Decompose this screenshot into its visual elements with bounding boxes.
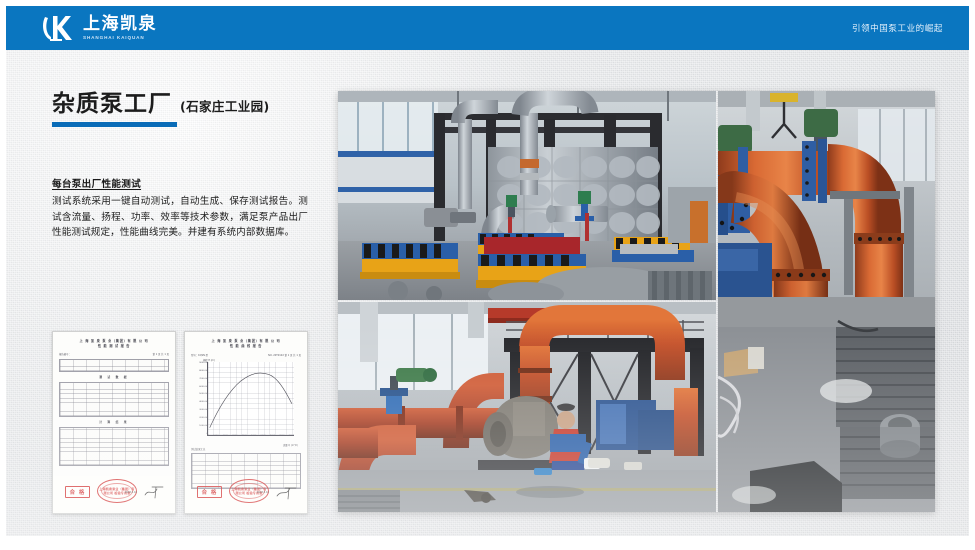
page-header: 上海凯泉 SHANGHAI KAIQUAN 引领中国泵工业的崛起 xyxy=(6,6,969,50)
slide-canvas: 上海凯泉 SHANGHAI KAIQUAN 引领中国泵工业的崛起 杂质泵工厂 (… xyxy=(6,6,969,536)
logo-chinese-name: 上海凯泉 xyxy=(83,16,157,34)
orange-elbow-piping-photo xyxy=(718,91,935,512)
test-report-table-thumbnail[interactable]: 上 海 凯 泉 泵 业（集团）有 限 公 司 性 能 测 试 报 告 报告编号：… xyxy=(52,331,176,514)
x-tick: 8000 xyxy=(279,435,284,440)
left-content-column: 杂质泵工厂 (石家庄工业园) 每台泵出厂性能测试 测试系统采用一键自动测试，自动… xyxy=(6,50,336,536)
x-tick: 7000 xyxy=(270,435,275,440)
document-thumbnails: 上 海 凯 泉 泵 业（集团）有 限 公 司 性 能 测 试 报 告 报告编号：… xyxy=(52,331,308,514)
chart-curve-path xyxy=(208,362,294,435)
kaiquan-k-mark-icon xyxy=(42,13,76,43)
y-tick: 7000.00 xyxy=(199,378,208,380)
chart-y-axis-label: 扬程 H (m) xyxy=(203,358,215,362)
stamp-date: 2018.3.16 xyxy=(125,491,137,494)
description-paragraph: 测试系统采用一键自动测试，自动生成、保存测试报告。测试含流量、扬程、功率、效率等… xyxy=(52,194,308,241)
y-tick: 9000.00 xyxy=(199,362,208,364)
curve-caption: 测试结果汇总 xyxy=(191,447,205,451)
y-tick: 4000.00 xyxy=(199,401,208,403)
doc-results-table xyxy=(59,427,169,466)
brand-logo[interactable]: 上海凯泉 SHANGHAI KAIQUAN xyxy=(42,13,157,43)
y-tick: 2000.00 xyxy=(199,417,208,419)
performance-curve-chart: 9000.00 8000.00 7000.00 6000.00 5000.00 … xyxy=(207,362,294,436)
handwritten-signature-icon xyxy=(275,484,297,500)
stamp-date: 2018.3.16 xyxy=(257,491,269,494)
chart-x-axis-label: 流量 Q (m³/h) xyxy=(283,443,298,447)
doc-section-label-2: 计 算 结 果 xyxy=(59,420,169,424)
title-underline-bar xyxy=(52,122,177,127)
title-block: 杂质泵工厂 (石家庄工业园) xyxy=(52,92,270,127)
test-report-curve-thumbnail[interactable]: 上 海 凯 泉 泵 业（集团）有 限 公 司 性 能 曲 线 报 告 型号：KQ… xyxy=(184,331,308,514)
slide-frame: 上海凯泉 SHANGHAI KAIQUAN 引领中国泵工业的崛起 杂质泵工厂 (… xyxy=(0,0,975,550)
header-tagline: 引领中国泵工业的崛起 xyxy=(852,22,943,34)
doc-meta-left: 报告编号： xyxy=(59,352,71,356)
description-heading: 每台泵出厂性能测试 xyxy=(52,176,308,190)
logo-english-name: SHANGHAI KAIQUAN xyxy=(83,35,157,41)
doc-stamp-row: 合 格 上海凯泉泵业（集团）有限公司 检验专用章 2018.3.16 xyxy=(63,474,167,504)
pump-test-hall-photo xyxy=(338,91,716,300)
photo-collage xyxy=(338,91,935,512)
doc-measurement-table xyxy=(59,382,169,417)
y-tick: 1000.00 xyxy=(199,425,208,427)
curve-meta-left: 型号：KQSN 型 xyxy=(191,353,208,357)
y-tick: 8000.00 xyxy=(199,370,208,372)
handwritten-signature-icon xyxy=(143,484,165,500)
doc-report-title: 性 能 测 试 报 告 xyxy=(59,344,169,349)
pump-test-piping-photo xyxy=(338,302,716,512)
y-tick: 6000.00 xyxy=(199,386,208,388)
collage-left-column xyxy=(338,91,716,512)
x-tick: 2000 xyxy=(223,435,228,440)
page-title: 杂质泵工厂 xyxy=(52,92,172,117)
doc-header-table xyxy=(59,359,169,372)
qualified-stamp: 合 格 xyxy=(65,486,90,498)
x-tick: 4000 xyxy=(242,435,247,440)
x-tick: 9000 xyxy=(289,435,294,440)
curve-report-title: 性 能 曲 线 报 告 xyxy=(191,344,301,349)
x-tick: 0 xyxy=(208,435,209,440)
curve-meta-right: NO. 20T0102 第 1 页 共 1 页 xyxy=(268,353,301,357)
chart-x-ticks: 0 1000 2000 3000 4000 5000 6000 7000 800… xyxy=(208,435,294,440)
qualified-stamp: 合 格 xyxy=(197,486,222,498)
x-tick: 5000 xyxy=(251,435,256,440)
doc-meta-right: 第 1 页 共 1 页 xyxy=(153,352,169,356)
description-block: 每台泵出厂性能测试 测试系统采用一键自动测试，自动生成、保存测试报告。测试含流量… xyxy=(52,176,308,241)
page-subtitle: (石家庄工业园) xyxy=(180,96,270,115)
y-tick: 5000.00 xyxy=(199,393,208,395)
x-tick: 6000 xyxy=(260,435,265,440)
x-tick: 3000 xyxy=(232,435,237,440)
x-tick: 1000 xyxy=(213,435,218,440)
curve-stamp-row: 合 格 上海凯泉泵业（集团）有限公司 检验专用章 2018.3.16 xyxy=(195,474,299,504)
chart-y-ticks: 9000.00 8000.00 7000.00 6000.00 5000.00 … xyxy=(197,362,208,435)
collage-right-column xyxy=(718,91,935,512)
doc-section-label-1: 测 试 数 据 xyxy=(59,375,169,379)
y-tick: 3000.00 xyxy=(199,409,208,411)
